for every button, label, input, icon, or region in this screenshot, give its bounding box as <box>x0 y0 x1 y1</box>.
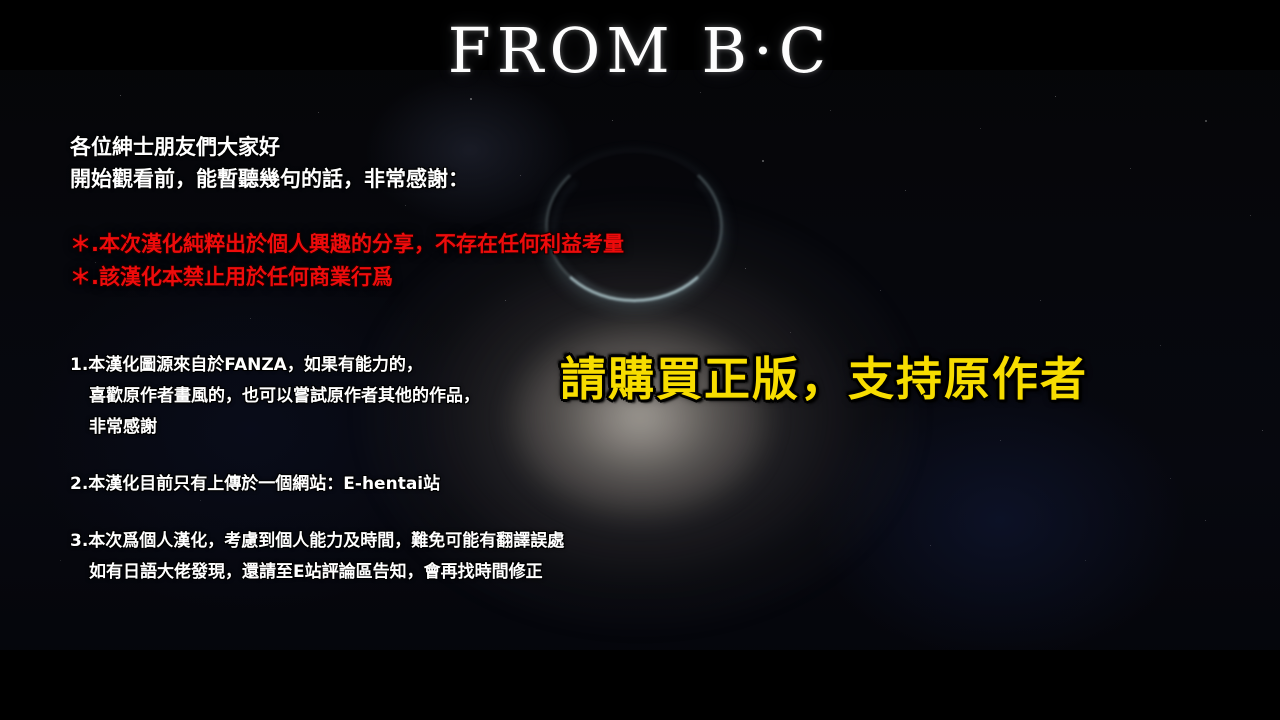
list-item: 3.本次爲個人漢化，考慮到個人能力及時間，難免可能有翻譯誤處 如有日語大佬發現，… <box>70 526 564 588</box>
note-line: 如有日語大佬發現，還請至E站評論區告知，會再找時間修正 <box>70 557 564 588</box>
note-line: 2.本漢化目前只有上傳於一個網站：E-hentai站 <box>70 469 564 500</box>
note-line: 1.本漢化圖源來自於FANZA，如果有能力的， <box>70 350 564 381</box>
warning-line-1: ＊.本次漢化純粹出於個人興趣的分享，不存在任何利益考量 <box>70 228 624 261</box>
greeting-block: 各位紳士朋友們大家好 開始觀看前，能暫聽幾句的話，非常感謝： <box>70 131 469 195</box>
warning-line-2: ＊.該漢化本禁止用於任何商業行爲 <box>70 261 624 294</box>
text-overlay: 各位紳士朋友們大家好 開始觀看前，能暫聽幾句的話，非常感謝： ＊.本次漢化純粹出… <box>0 0 1280 720</box>
call-to-action-banner: 請購買正版，支持原作者 <box>560 350 1088 408</box>
title-card-screen: FROM B·C 各位紳士朋友們大家好 開始觀看前，能暫聽幾句的話，非常感謝： … <box>0 0 1280 720</box>
note-line: 3.本次爲個人漢化，考慮到個人能力及時間，難免可能有翻譯誤處 <box>70 526 564 557</box>
greeting-line-2: 開始觀看前，能暫聽幾句的話，非常感謝： <box>70 163 469 195</box>
note-line: 非常感謝 <box>70 412 564 443</box>
note-line: 喜歡原作者畫風的，也可以嘗試原作者其他的作品， <box>70 381 564 412</box>
notes-list: 1.本漢化圖源來自於FANZA，如果有能力的， 喜歡原作者畫風的，也可以嘗試原作… <box>70 350 564 588</box>
list-item: 1.本漢化圖源來自於FANZA，如果有能力的， 喜歡原作者畫風的，也可以嘗試原作… <box>70 350 564 443</box>
page-title: FROM B·C <box>0 20 1280 82</box>
warning-block: ＊.本次漢化純粹出於個人興趣的分享，不存在任何利益考量 ＊.該漢化本禁止用於任何… <box>70 228 624 294</box>
list-item: 2.本漢化目前只有上傳於一個網站：E-hentai站 <box>70 469 564 500</box>
greeting-line-1: 各位紳士朋友們大家好 <box>70 131 469 163</box>
